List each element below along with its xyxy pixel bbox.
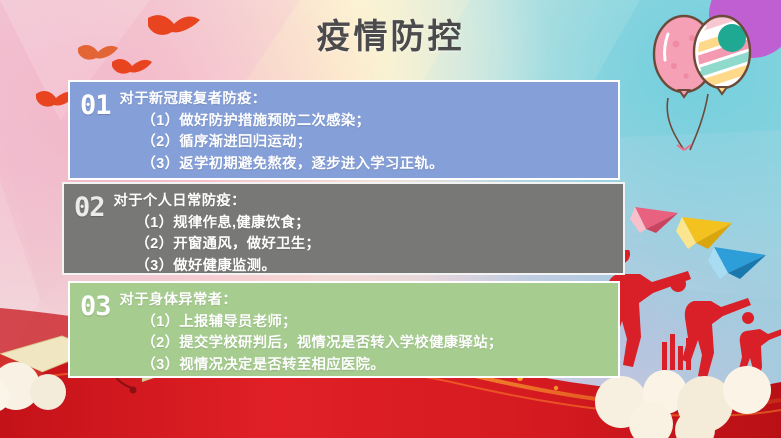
slide-canvas: 疫情防控 01 对于新冠康复者防疫： （1）做好防护措施预防二次感染； （2）循…	[0, 0, 781, 438]
block-heading-02: 对于个人日常防疫：	[114, 191, 613, 213]
block-number-03: 03	[80, 293, 111, 320]
block-item: （3）视情况决定是否转至相应医院。	[120, 355, 608, 377]
block-item: （3）做好健康监测。	[114, 256, 613, 278]
block-number-02: 02	[74, 194, 105, 221]
page-title: 疫情防控	[0, 9, 781, 58]
block-item: （2）开窗通风，做好卫生；	[114, 234, 613, 256]
block-lines-03: 对于身体异常者： （1）上报辅导员老师； （2）提交学校研判后，视情况是否转入学…	[120, 290, 608, 377]
block-number-01: 01	[80, 92, 111, 119]
block-lines-02: 对于个人日常防疫： （1）规律作息,健康饮食； （2）开窗通风，做好卫生； （3…	[114, 191, 613, 278]
block-lines-01: 对于新冠康复者防疫： （1）做好防护措施预防二次感染； （2）循序渐进回归运动；…	[120, 89, 608, 176]
content-block-03: 03 对于身体异常者： （1）上报辅导员老师； （2）提交学校研判后，视情况是否…	[68, 281, 620, 378]
block-item: （1）做好防护措施预防二次感染；	[120, 111, 608, 133]
block-heading-01: 对于新冠康复者防疫：	[120, 89, 608, 111]
content-block-01: 01 对于新冠康复者防疫： （1）做好防护措施预防二次感染； （2）循序渐进回归…	[68, 80, 620, 180]
block-heading-03: 对于身体异常者：	[120, 290, 608, 312]
block-item: （2）提交学校研判后，视情况是否转入学校健康驿站；	[120, 333, 608, 355]
content-block-02: 02 对于个人日常防疫： （1）规律作息,健康饮食； （2）开窗通风，做好卫生；…	[62, 182, 625, 275]
block-item: （1）规律作息,健康饮食；	[114, 213, 613, 235]
block-item: （1）上报辅导员老师；	[120, 312, 608, 334]
block-item: （2）循序渐进回归运动；	[120, 132, 608, 154]
block-item: （3）返学初期避免熬夜，逐步进入学习正轨。	[120, 154, 608, 176]
